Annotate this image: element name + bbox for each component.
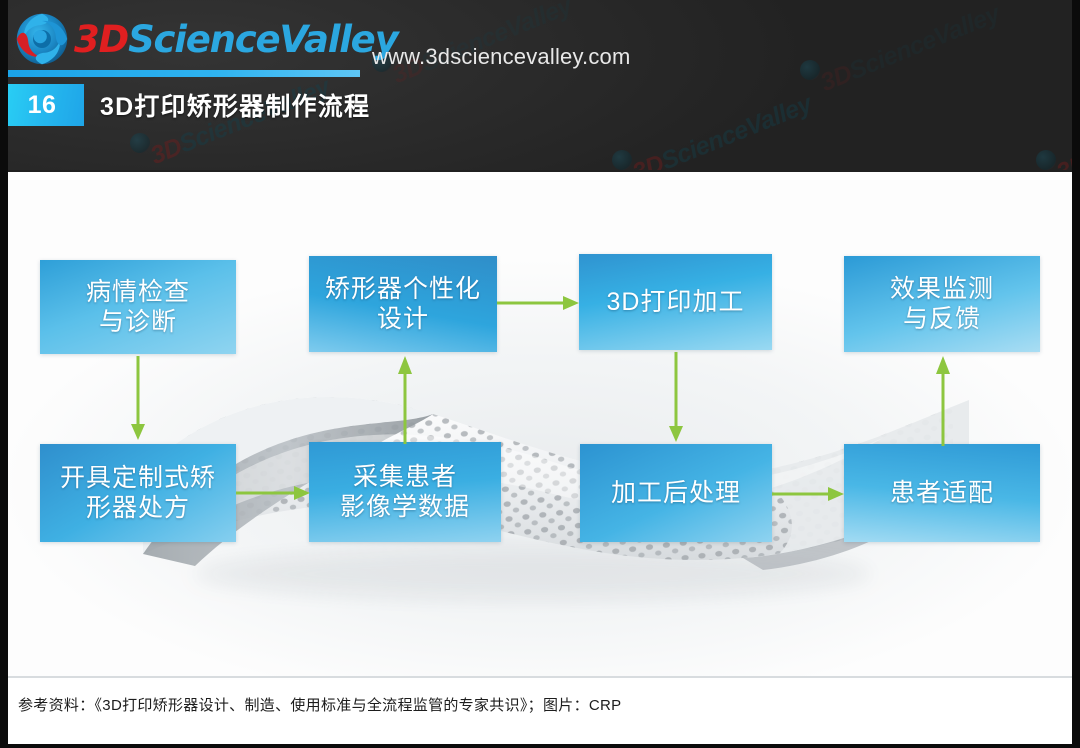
flow-arrow-7 [931, 354, 955, 446]
bottom-border-strip [0, 744, 1080, 748]
right-border-strip [1072, 0, 1080, 748]
brand-wordmark: 3DScienceValley [74, 21, 398, 58]
flow-box-6[interactable]: 采集患者 影像学数据 [309, 442, 501, 542]
flow-box-7[interactable]: 加工后处理 [580, 444, 772, 542]
watermark-logo-dot [1036, 150, 1056, 170]
watermark-logo-dot [800, 60, 820, 80]
flow-arrow-3 [393, 354, 417, 444]
flow-box-5-label: 开具定制式矫 形器处方 [54, 463, 222, 524]
flow-box-2-label: 矫形器个性化 设计 [319, 274, 487, 335]
flow-box-8[interactable]: 患者适配 [844, 444, 1040, 542]
flow-box-8-label: 患者适配 [884, 478, 1000, 509]
slide-footer: 参考资料：《3D打印矫形器设计、制造、使用标准与全流程监管的专家共识》；图片：C… [0, 676, 1080, 748]
flow-box-5[interactable]: 开具定制式矫 形器处方 [40, 444, 236, 542]
brand-logo[interactable]: 3DScienceValley [12, 8, 398, 70]
watermark-logo-dot [130, 133, 150, 153]
flow-box-4[interactable]: 效果监测 与反馈 [844, 256, 1040, 352]
slide-header: 3DScienceValley 3DScienceValley 3DScienc… [0, 0, 1080, 170]
flow-arrow-4 [497, 292, 581, 314]
swirl-spiral-icon [12, 9, 72, 69]
watermark-logo-dot [612, 150, 632, 170]
left-border-strip [0, 0, 8, 748]
flow-arrow-6 [772, 483, 846, 505]
reference-text: 参考资料：《3D打印矫形器设计、制造、使用标准与全流程监管的专家共识》；图片：C… [18, 694, 621, 715]
page-title: 3D打印矫形器制作流程 [100, 87, 370, 123]
brand-wordmark-sciencevalley: ScienceValley [128, 18, 397, 61]
flow-box-3[interactable]: 3D打印加工 [579, 254, 772, 350]
flow-box-1-label: 病情检查 与诊断 [80, 277, 196, 338]
flow-box-7-label: 加工后处理 [605, 478, 747, 509]
slide-canvas: 病情检查 与诊断 矫形器个性化 设计 3D打印加工 效果监测 与反馈 开具定制式… [8, 172, 1072, 676]
brand-wordmark-3d: 3D [74, 18, 128, 61]
slide-number: 16 [28, 91, 57, 120]
flow-box-3-label: 3D打印加工 [601, 287, 751, 318]
flow-box-6-label: 采集患者 影像学数据 [334, 462, 476, 523]
slide: 3DScienceValley 3DScienceValley 3DScienc… [0, 0, 1080, 748]
flow-box-4-label: 效果监测 与反馈 [884, 274, 1000, 335]
flow-arrow-5 [664, 352, 688, 444]
flow-box-1[interactable]: 病情检查 与诊断 [40, 260, 236, 354]
header-accent-rule [0, 70, 360, 77]
footer-divider [8, 676, 1072, 678]
website-url[interactable]: www.3dsciencevalley.com [372, 44, 631, 70]
flow-arrow-2 [236, 482, 312, 504]
flow-box-2[interactable]: 矫形器个性化 设计 [309, 256, 497, 352]
slide-number-chip: 16 [0, 84, 84, 126]
flow-arrow-1 [126, 356, 150, 442]
